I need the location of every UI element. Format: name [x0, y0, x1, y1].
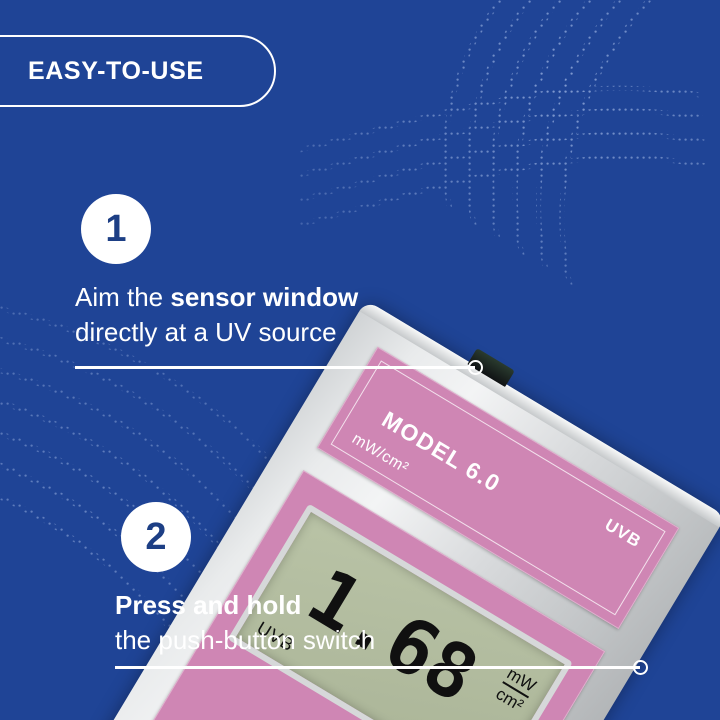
step-1-line-1-plain: Aim the — [75, 282, 170, 312]
easy-to-use-badge: EASY-TO-USE — [0, 35, 276, 107]
device-units-label: mW/cm² — [348, 430, 411, 478]
step-1-line-2: directly at a UV source — [75, 315, 358, 350]
step-2-target-marker — [633, 660, 648, 675]
device-model-label: MODEL 6.0 — [377, 406, 505, 498]
step-2-number: 2 — [145, 518, 166, 556]
infographic-canvas: MODEL 6.0 UVB mW/cm² 1.68 mW cm² UVB EAS… — [0, 0, 720, 720]
panel-hairline-border — [331, 360, 666, 615]
step-2-leader-line — [115, 666, 640, 669]
device-top-label-panel: MODEL 6.0 UVB mW/cm² — [317, 347, 679, 629]
step-2-line-1: Press and hold — [115, 588, 375, 623]
step-1-number-circle: 1 — [81, 194, 151, 264]
step-1-line-1: Aim the sensor window — [75, 280, 358, 315]
step-1-leader-line — [75, 366, 475, 369]
badge-label: EASY-TO-USE — [28, 57, 204, 86]
step-1-target-marker — [468, 360, 483, 375]
device-top-edge — [359, 300, 720, 527]
lcd-unit-denominator: cm² — [492, 681, 530, 716]
device-band-label: UVB — [601, 515, 645, 552]
step-2-number-circle: 2 — [121, 502, 191, 572]
step-2-line-2: the push-button switch — [115, 623, 375, 658]
step-1-text: Aim the sensor window directly at a UV s… — [75, 280, 358, 349]
step-1-number: 1 — [105, 210, 126, 248]
step-1-line-1-bold: sensor window — [170, 282, 358, 312]
lcd-unit-fraction: mW cm² — [492, 664, 540, 716]
step-2-text: Press and hold the push-button switch — [115, 588, 375, 657]
